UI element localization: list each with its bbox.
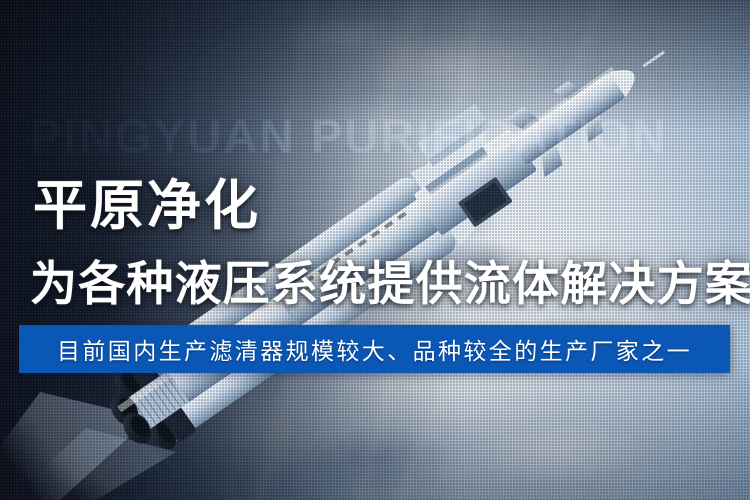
watermark-english-title: PINGYUAN PURIFICATION <box>30 112 750 159</box>
banner-content: PINGYUAN PURIFICATION 平原净化 为各种液压系统提供流体解决… <box>0 0 750 500</box>
page-title: 平原净化 <box>33 177 261 235</box>
promotional-banner: PINGYUAN PURIFICATION 平原净化 为各种液压系统提供流体解决… <box>0 0 750 500</box>
tagline-ribbon: 目前国内生产滤清器规模较大、品种较全的生产厂家之一 <box>19 325 730 373</box>
tagline-text: 目前国内生产滤清器规模较大、品种较全的生产厂家之一 <box>57 332 692 366</box>
page-subtitle: 为各种液压系统提供流体解决方案 <box>30 258 750 310</box>
